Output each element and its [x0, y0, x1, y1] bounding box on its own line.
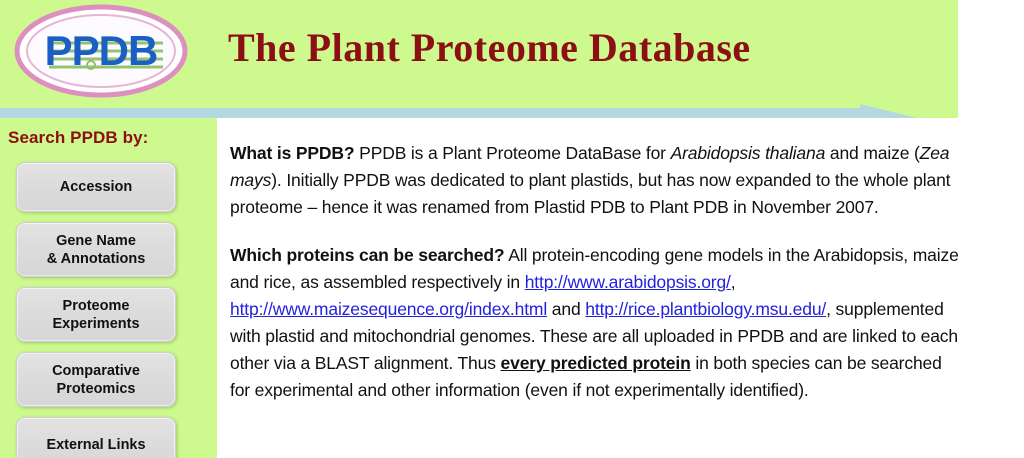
sidebar-item-label-2: & Annotations [47, 250, 146, 268]
sidebar-button-list: Accession Gene Name & Annotations Proteo… [16, 162, 180, 458]
ppdb-logo-text: PPDB [45, 27, 158, 74]
paragraph-heading: Which proteins can be searched? [230, 245, 504, 265]
link-maizesequence-org[interactable]: http://www.maizesequence.org/index.html [230, 299, 547, 319]
page-root: PPDB The Plant Proteome Database Search … [0, 0, 1024, 458]
paragraph-text: and maize ( [825, 143, 920, 163]
main-content: What is PPDB? PPDB is a Plant Proteome D… [217, 118, 1024, 458]
sidebar: Search PPDB by: Accession Gene Name & An… [0, 118, 217, 458]
sidebar-title: Search PPDB by: [8, 128, 148, 148]
sidebar-item-label: Comparative [52, 362, 140, 380]
sidebar-item-comparative-proteomics[interactable]: Comparative Proteomics [16, 352, 176, 407]
sidebar-item-label: Accession [60, 178, 133, 196]
ppdb-logo-icon: PPDB [13, 3, 189, 99]
paragraph-text: and [547, 299, 585, 319]
sidebar-item-proteome-experiments[interactable]: Proteome Experiments [16, 287, 176, 342]
ppdb-logo[interactable]: PPDB [13, 3, 189, 99]
paragraph-text: ). Initially PPDB was dedicated to plant… [230, 170, 950, 217]
sidebar-item-accession[interactable]: Accession [16, 162, 176, 212]
site-header: PPDB The Plant Proteome Database [0, 0, 958, 118]
emphasis-every-predicted-protein: every predicted protein [501, 353, 691, 373]
paragraph-which-proteins: Which proteins can be searched? All prot… [217, 221, 1024, 404]
link-rice-plantbiology-msu-edu[interactable]: http://rice.plantbiology.msu.edu/ [585, 299, 826, 319]
sidebar-item-gene-name-annotations[interactable]: Gene Name & Annotations [16, 222, 176, 277]
sidebar-item-label-2: Proteomics [52, 380, 140, 398]
link-arabidopsis-org[interactable]: http://www.arabidopsis.org/ [525, 272, 731, 292]
paragraph-what-is-ppdb: What is PPDB? PPDB is a Plant Proteome D… [217, 118, 1024, 221]
paragraph-heading: What is PPDB? [230, 143, 354, 163]
sidebar-item-external-links[interactable]: External Links [16, 417, 176, 458]
paragraph-text: , [731, 272, 736, 292]
page-title: The Plant Proteome Database [228, 24, 751, 71]
banner-arrow-icon [0, 104, 958, 118]
sidebar-item-label-2: Experiments [52, 315, 139, 333]
sidebar-item-label: Gene Name [47, 232, 146, 250]
sidebar-item-label: Proteome [52, 297, 139, 315]
sidebar-item-label: External Links [46, 436, 145, 454]
paragraph-text: PPDB is a Plant Proteome DataBase for [354, 143, 670, 163]
species-name-arabidopsis: Arabidopsis thaliana [671, 143, 826, 163]
